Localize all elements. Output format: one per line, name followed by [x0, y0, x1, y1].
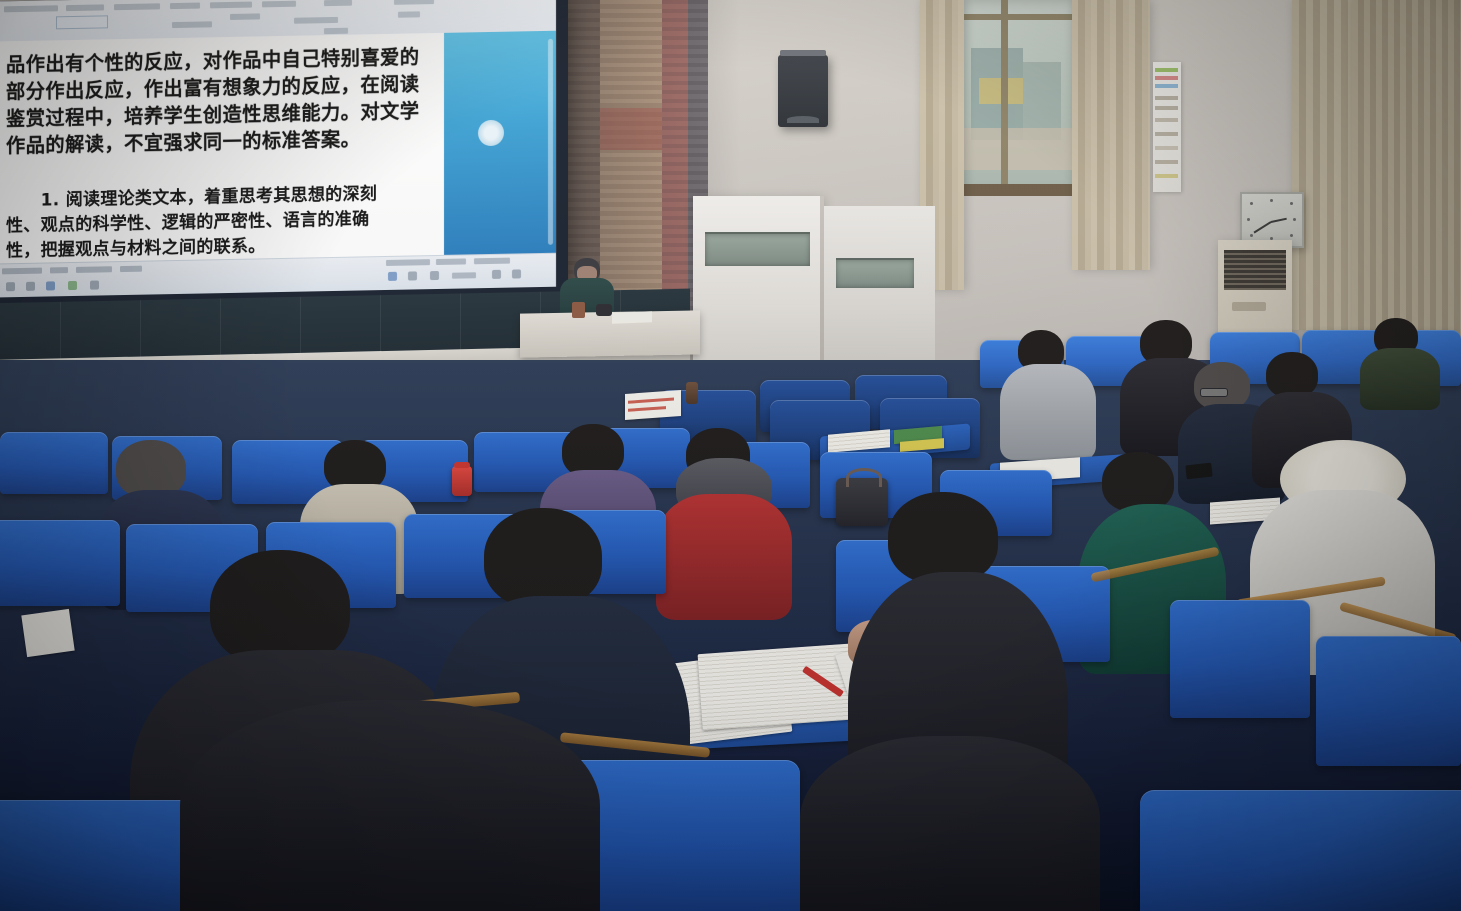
person-body [656, 494, 792, 620]
slide-paragraph-2: 1. 阅读理论类文本，着重思考其思想的深刻 性、观点的科学性、逻辑的严密性、语言… [6, 181, 442, 264]
window-sill [953, 184, 1085, 196]
curtain [1072, 0, 1150, 270]
person-body [1360, 348, 1440, 410]
person-head [1102, 452, 1174, 512]
projected-desktop-background [444, 31, 556, 255]
control-booth-side [823, 206, 935, 378]
control-booth-edge [820, 196, 824, 382]
glasses-icon [1200, 388, 1228, 397]
seat[interactable] [0, 432, 108, 494]
notice-poster [1153, 62, 1181, 192]
projected-image: 品作出有个性的反应，对作品中自己特别喜爱的 部分作出反应，作出富有想象力的反应，… [0, 0, 556, 298]
person-head [888, 492, 998, 584]
slide-content: 品作出有个性的反应，对作品中自己特别喜爱的 部分作出反应，作出富有想象力的反应，… [0, 33, 444, 264]
seat[interactable] [1316, 636, 1461, 766]
control-booth [693, 196, 823, 381]
booth-window [836, 258, 914, 288]
podium-desk [520, 310, 700, 357]
bag-strap [846, 468, 882, 487]
paper-on-podium [612, 311, 652, 323]
ac-badge [1232, 302, 1266, 311]
scrollbar[interactable] [548, 39, 553, 245]
mobile-phone [1185, 463, 1212, 480]
window-mullion [1001, 0, 1008, 196]
person-body [800, 736, 1100, 911]
thermos-cap [454, 462, 470, 468]
desktop-emblem-icon [478, 120, 504, 146]
slide-paragraph-1: 品作出有个性的反应，对作品中自己特别喜爱的 部分作出反应，作出富有想象力的反应，… [6, 43, 434, 159]
seat[interactable] [1140, 790, 1461, 911]
clock-hour-hand [1271, 218, 1287, 223]
curtain [1352, 0, 1461, 340]
booth-window [705, 232, 810, 266]
speaker-icon [778, 55, 828, 127]
papers [21, 609, 74, 657]
window [957, 0, 1079, 196]
name-card [625, 390, 681, 420]
seat[interactable] [0, 520, 120, 606]
clock-minute-hand [1254, 221, 1272, 233]
projection-screen: 品作出有个性的反应，对作品中自己特别喜爱的 部分作出反应，作出富有想象力的反应，… [0, 0, 568, 308]
laptop-or-device [596, 304, 612, 316]
red-thermos [452, 466, 472, 496]
speaker-vent [787, 116, 819, 123]
seat[interactable] [1170, 600, 1310, 718]
ac-grille [1224, 250, 1286, 290]
curtain [1292, 0, 1352, 330]
person-head [484, 508, 602, 608]
building-outside [957, 128, 1079, 170]
person-body [180, 700, 600, 911]
cup [572, 302, 585, 318]
lecture-hall-photo: 品作出有个性的反应，对作品中自己特别喜爱的 部分作出反应，作出富有想象力的反应，… [0, 0, 1461, 911]
bottle [686, 382, 698, 404]
window-mullion [957, 14, 1079, 20]
person-head [1194, 362, 1250, 410]
person-body [1000, 364, 1096, 460]
speaker-bracket [780, 50, 826, 56]
person-head [210, 550, 350, 666]
